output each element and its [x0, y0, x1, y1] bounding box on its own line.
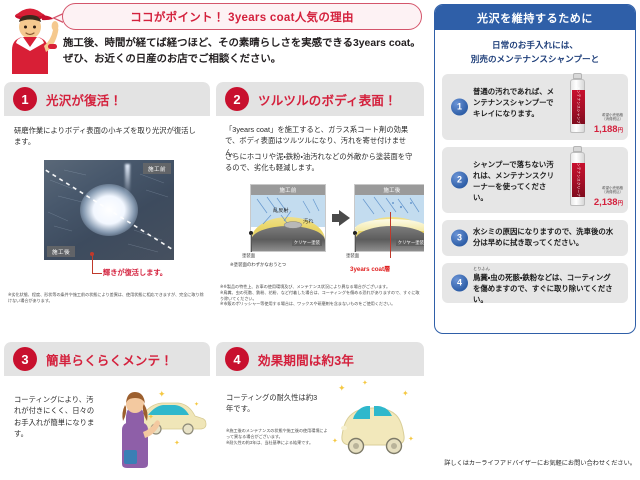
tip-4-number-badge: 4: [451, 274, 468, 291]
header-row: ココがポイント！ 3years coat人気の理由 施工後、時間が経てば経つほど…: [0, 0, 428, 78]
tip-4-text-wrap: とりふん 鳥糞・虫の死骸・鉄粉などは、コーティングを傷めますので、すぐに取り除い…: [473, 263, 620, 311]
card-4-description: コーティングの耐久性は約3年です。: [226, 392, 318, 415]
card-3-header: 3 簡単らくらくメンテ！: [4, 342, 210, 376]
lead-paragraph: 施工後、時間が経てば経つほど、その素晴らしさを実感できる3years coat。…: [63, 36, 425, 68]
tip-1-number-badge: 1: [451, 98, 468, 115]
card-4-illustration: ✦ ✦ ✦ ✦ ✦: [328, 380, 422, 468]
card-2-header: 2 ツルツルのボディ表面！: [216, 82, 424, 116]
diagram-before-paint-label: 塗装面: [242, 253, 255, 259]
card-4-fineprint-line-1: ※施工後のメンテナンスの状態や施工後の使用環境によって異なる場合がございます。: [226, 428, 330, 440]
sparkle-icon: ✦: [362, 380, 368, 387]
photo-diagonal-divider: [44, 160, 174, 260]
card-2-body: 「3years coat」を施工すると、ガラス系コート剤の効果で、ボディ表面はツ…: [216, 116, 424, 330]
maintenance-tip-2: 2 シャンプーで落ちない汚れは、メンテナンスクリーナーを使ってください。 メンテ…: [442, 147, 628, 213]
card-2-fineprint-line-3: ※市販のポリッシャー等使用する場合は、ワックスや研磨剤を含まないものをご使用くだ…: [220, 301, 422, 307]
card-1-title: 光沢が復活！: [46, 90, 122, 109]
shampoo-product-name: メンテナンスシャンプー: [576, 86, 581, 128]
shampoo-bottle-icon: メンテナンスシャンプー: [570, 79, 585, 133]
card-gloss-revival: 1 光沢が復活！ 研磨作業によりボディ表面の小キズを取り光沢が復活します。: [4, 82, 210, 330]
tip-4-ruby-1: とりふん: [473, 267, 616, 272]
tip-1-price-currency: 円: [618, 128, 623, 134]
diagram-panel-before: 施工前 乱反射: [250, 184, 326, 252]
tip-2-number-badge: 2: [451, 171, 468, 188]
card-easy-maintenance: 3 簡単らくらくメンテ！ コーティングにより、汚れが付きにくく、日々のお手入れが…: [4, 342, 210, 470]
maintenance-subtitle-line-1: 日常のお手入れには、: [435, 39, 635, 53]
card-2-cross-section-diagram: 施工前 乱反射: [224, 184, 416, 276]
maintenance-subtitle-line-2: 別売のメンテナンスシャンプーと: [435, 53, 635, 67]
diagram-arrow-stem: [332, 214, 339, 222]
tip-2-price-note: 希望小売価格 （消費税込）: [602, 186, 623, 195]
sparkle-icon: ✦: [332, 438, 338, 445]
lead-line-2: ぜひ、お近くの日産のお店でご相談ください。: [63, 52, 425, 68]
diagram-panel-after: 施工後: [354, 184, 424, 252]
cleaner-bottle-icon: メンテナンスクリーナー: [570, 152, 585, 206]
card-3-body: コーティングにより、汚れが付きにくく、日々のお手入れが簡単になります。: [4, 376, 210, 470]
card-4-body: コーティングの耐久性は約3年です。 ※施工後のメンテナンスの状態や施工後の使用環…: [216, 376, 424, 470]
callout-horizontal-line: [92, 273, 102, 274]
footer-note: 詳しくはカーライフアドバイザーにお気軽にお問い合わせください。: [436, 458, 636, 467]
card-4-title: 効果期間は約3年: [258, 350, 354, 369]
card-1-header: 1 光沢が復活！: [4, 82, 210, 116]
diagram-before-clear-tag: クリヤー塗装: [292, 239, 322, 246]
tip-2-price: 2,138円: [594, 197, 623, 208]
tip-1-price-note: 希望小売価格 （消費税込）: [602, 113, 623, 122]
maintenance-panel-subtitle: 日常のお手入れには、 別売のメンテナンスシャンプーと: [435, 39, 635, 67]
sparkle-icon: ✦: [408, 436, 414, 443]
tip-1-text: 普通の汚れであれば、メンテナンスシャンプーでキレイになります。: [473, 74, 562, 125]
diagram-coat-leader-line: [390, 212, 391, 258]
card-2-title: ツルツルのボディ表面！: [258, 90, 397, 109]
card-1-description: 研磨作業によりボディ表面の小キズを取り光沢が復活します。: [14, 125, 200, 148]
card-2-number-badge: 2: [225, 87, 249, 111]
diagram-after-paint-line: [355, 234, 356, 252]
photo-tag-before: 施工前: [143, 163, 171, 174]
card-1-fineprint: ※劣化状態、程度、形状等の条件や施工前の状態により差異は、使用状態に相応できます…: [8, 292, 206, 304]
diagram-after-paint-label: 塗装面: [346, 253, 359, 259]
diagram-before-note: ※塗装面のわずかなおうとつ: [230, 262, 286, 268]
card-duration: 4 効果期間は約3年 コーティングの耐久性は約3年です。 ※施工後のメンテナンス…: [216, 342, 424, 470]
photo-tag-after: 施工後: [47, 246, 75, 257]
tip-4-text: 鳥糞・虫の死骸・鉄粉などは、コーティングを傷めますので、すぐに取り除いてください…: [473, 273, 613, 304]
tip-2-price-note-line-2: （消費税込）: [602, 190, 623, 194]
tip-3-number-badge: 3: [451, 229, 468, 246]
tip-2-product: メンテナンスクリーナー 希望小売価格 （消費税込） 2,138円: [562, 150, 624, 210]
card-2-fineprint: ※※製品の特性上、お車の使用環境及び、メンテナンス状況により異なる場合がございま…: [220, 284, 422, 307]
tip-2-price-value: 2,138: [594, 197, 618, 208]
maintenance-panel-title: 光沢を維持するために: [477, 10, 593, 26]
sparkle-icon: ✦: [402, 390, 409, 398]
maintenance-panel-header: 光沢を維持するために: [435, 5, 635, 30]
card-1-number-badge: 1: [13, 87, 37, 111]
cleaner-product-name: メンテナンスクリーナー: [576, 159, 581, 201]
diagram-coat-label: 3years coat層: [350, 264, 390, 273]
sparkle-icon: ✦: [174, 440, 180, 447]
maintenance-tip-1: 1 普通の汚れであれば、メンテナンスシャンプーでキレイになります。 メンテナンス…: [442, 74, 628, 140]
diagram-before-paint-line: [251, 234, 252, 252]
card-1-before-after-photo: 施工前 施工後: [44, 160, 174, 260]
tip-1-product: メンテナンスシャンプー 希望小売価格 （消費税込） 1,188円: [562, 77, 624, 137]
diagram-after-clear-tag: クリヤー塗装: [396, 239, 424, 246]
diagram-arrow-head: [339, 210, 350, 226]
tip-1-price: 1,188円: [594, 124, 623, 135]
maintenance-tip-4: 4 とりふん 鳥糞・虫の死骸・鉄粉などは、コーティングを傷めますので、すぐに取り…: [442, 263, 628, 303]
advertisement-page: ココがポイント！ 3years coat人気の理由 施工後、時間が経てば経つほど…: [0, 0, 640, 480]
card-4-header: 4 効果期間は約3年: [216, 342, 424, 376]
card-4-fineprint-line-2: ※耐久性の約3年は、当社基準による結果です。: [226, 440, 330, 446]
card-3-description: コーティングにより、汚れが付きにくく、日々のお手入れが簡単になります。: [14, 394, 96, 439]
shampoo-bottle-cap-icon: [573, 73, 582, 79]
maintenance-panel: 光沢を維持するために 日常のお手入れには、 別売のメンテナンスシャンプーと 1 …: [434, 4, 636, 334]
tip-1-price-note-line-2: （消費税込）: [602, 117, 623, 121]
shampoo-bottle-label: メンテナンスシャンプー: [572, 90, 585, 124]
cleaner-bottle-label: メンテナンスクリーナー: [572, 163, 585, 197]
tip-1-price-value: 1,188: [594, 124, 618, 135]
sparkle-icon: ✦: [148, 414, 154, 421]
speech-bubble: ココがポイント！ 3years coat人気の理由: [62, 3, 422, 30]
bubble-headline: ココがポイント！ 3years coat人気の理由: [130, 9, 354, 25]
card-smooth-surface: 2 ツルツルのボディ表面！ 「3years coat」を施工すると、ガラス系コー…: [216, 82, 424, 330]
diagram-dirt-label: 汚れ: [303, 218, 313, 225]
card-1-body: 研磨作業によりボディ表面の小キズを取り光沢が復活します。: [4, 116, 210, 330]
sparkle-icon: ✦: [158, 390, 166, 399]
card-2-description-2: さらにホコリや泥・鉄粉・油汚れなどの外敵から塗装面を守るので、劣化も軽減します。: [225, 151, 415, 174]
left-column: ココがポイント！ 3years coat人気の理由 施工後、時間が経てば経つほど…: [0, 0, 428, 480]
card-3-number-badge: 3: [13, 347, 37, 371]
card-1-callout-text: 輝きが復活します。: [103, 268, 167, 278]
card-3-illustration: ✦ ✦ ✦ ✦: [96, 378, 208, 470]
card-4-number-badge: 4: [225, 347, 249, 371]
lead-line-1: 施工後、時間が経てば経つほど、その素晴らしさを実感できる3years coat。: [63, 36, 425, 52]
callout-vertical-line: [92, 254, 93, 274]
card-4-fineprint: ※施工後のメンテナンスの状態や施工後の使用環境によって異なる場合がございます。 …: [226, 428, 330, 445]
cleaner-bottle-cap-icon: [573, 146, 582, 152]
maintenance-tip-3: 3 水シミの原因になりますので、洗車後の水分は早めに拭き取ってください。: [442, 220, 628, 256]
card-2-fineprint-line-2: ※鳥糞、虫の死骸、鉄粉、花粉、など付着した場合は、コーティングを傷める恐れがあり…: [220, 290, 422, 302]
tip-2-price-currency: 円: [618, 201, 623, 207]
sparkle-icon: ✦: [338, 384, 346, 393]
tip-2-text: シャンプーで落ちない汚れは、メンテナンスクリーナーを使ってください。: [473, 147, 562, 209]
sparkle-icon: ✦: [194, 402, 199, 408]
tip-3-text: 水シミの原因になりますので、洗車後の水分は早めに拭き取ってください。: [473, 220, 620, 254]
card-3-title: 簡単らくらくメンテ！: [46, 350, 173, 369]
